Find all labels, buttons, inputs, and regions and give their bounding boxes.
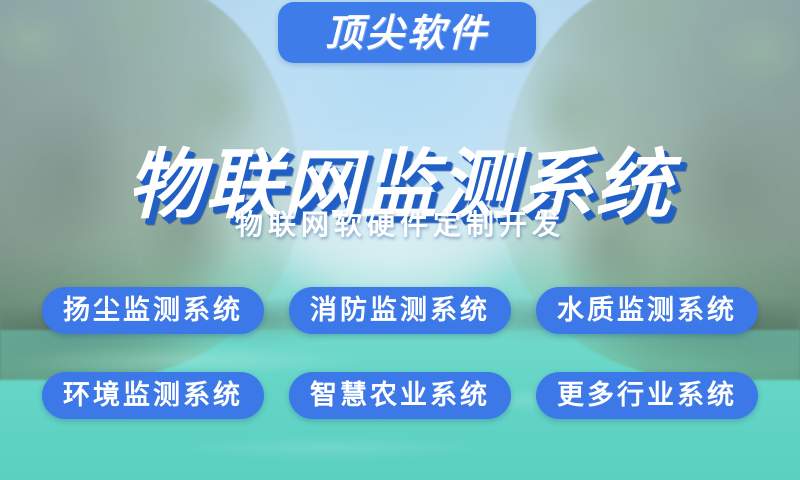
promo-banner: 顶尖软件 物联网监测系统 物联网软硬件定制开发 扬尘监测系统 消防监测系统 水质… — [0, 0, 800, 480]
service-pill-water-quality-monitoring[interactable]: 水质监测系统 — [536, 287, 758, 334]
service-pill-label: 环境监测系统 — [63, 382, 243, 409]
service-pill-fire-monitoring[interactable]: 消防监测系统 — [289, 287, 511, 334]
service-pill-label: 扬尘监测系统 — [63, 297, 243, 324]
service-pill-label: 更多行业系统 — [557, 382, 737, 409]
service-pill-label: 智慧农业系统 — [310, 382, 490, 409]
service-pill-smart-agriculture[interactable]: 智慧农业系统 — [289, 372, 511, 419]
service-pill-row-1: 扬尘监测系统 消防监测系统 水质监测系统 — [0, 287, 800, 334]
brand-badge-label: 顶尖软件 — [325, 14, 489, 52]
page-subtitle: 物联网软硬件定制开发 — [0, 208, 800, 242]
service-pill-environment-monitoring[interactable]: 环境监测系统 — [42, 372, 264, 419]
banner-content: 顶尖软件 物联网监测系统 物联网软硬件定制开发 扬尘监测系统 消防监测系统 水质… — [0, 0, 800, 480]
service-pill-row-2: 环境监测系统 智慧农业系统 更多行业系统 — [0, 372, 800, 419]
service-pill-label: 水质监测系统 — [557, 297, 737, 324]
service-pill-label: 消防监测系统 — [310, 297, 490, 324]
service-pill-dust-monitoring[interactable]: 扬尘监测系统 — [42, 287, 264, 334]
brand-badge: 顶尖软件 — [278, 2, 536, 63]
service-pill-more-industries[interactable]: 更多行业系统 — [536, 372, 758, 419]
